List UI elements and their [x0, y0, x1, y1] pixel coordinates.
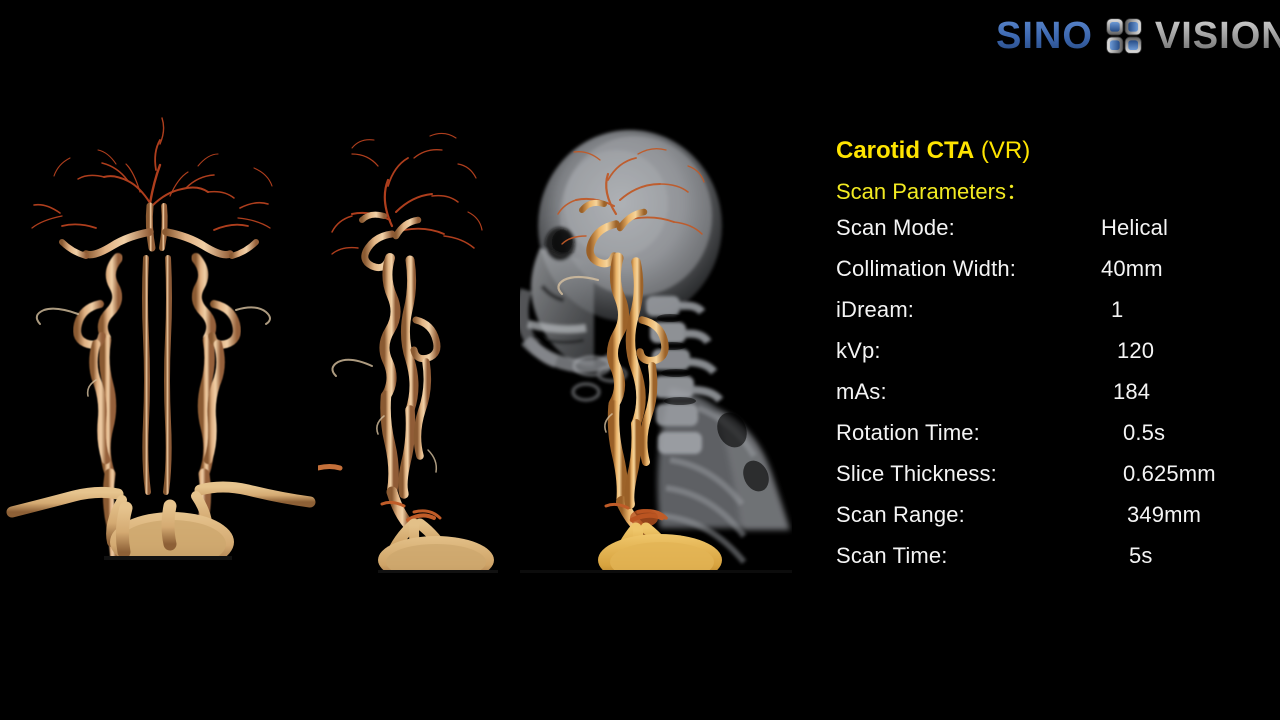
carotid-vr-anterior-view	[0, 108, 322, 560]
sinovision-logo: SINO	[996, 8, 1262, 64]
parameter-label: iDream:	[836, 297, 1101, 323]
parameter-value: 40mm	[1101, 256, 1163, 282]
skull-overlay-vr-render	[520, 108, 792, 573]
logo-text-sino: SINO	[996, 17, 1093, 55]
logo-text-vision: VISION	[1155, 17, 1280, 55]
parameter-value: 0.5s	[1101, 420, 1165, 446]
parameter-row: Slice Thickness:0.625mm	[836, 461, 1266, 502]
parameter-label: Rotation Time:	[836, 420, 1101, 446]
sinovision-clover-emblem-icon	[1095, 9, 1153, 63]
parameter-row: Scan Mode:Helical	[836, 215, 1266, 256]
page-title-main: Carotid CTA	[836, 137, 974, 164]
parameter-label: Scan Mode:	[836, 215, 1101, 241]
scan-parameters-heading: Scan Parameters：	[836, 179, 1266, 204]
parameter-row: Collimation Width:40mm	[836, 256, 1266, 297]
parameter-row: mAs:184	[836, 379, 1266, 420]
parameter-value: 349mm	[1101, 502, 1201, 528]
parameter-row: Scan Time:5s	[836, 543, 1266, 584]
page-title-modality: (VR)	[981, 137, 1030, 164]
anterior-vr-render	[0, 108, 322, 560]
presentation-slide: SINO	[0, 0, 1280, 720]
parameter-row: Scan Range:349mm	[836, 502, 1266, 543]
parameter-label: Scan Time:	[836, 543, 1101, 569]
parameter-value: 5s	[1101, 543, 1153, 569]
page-title: Carotid CTA (VR)	[836, 137, 1266, 165]
parameter-value: 1	[1101, 297, 1123, 323]
parameter-row: kVp:120	[836, 338, 1266, 379]
parameter-label: Scan Range:	[836, 502, 1101, 528]
scan-parameters-list: Scan Mode:HelicalCollimation Width:40mmi…	[836, 215, 1266, 584]
parameter-label: Collimation Width:	[836, 256, 1101, 282]
parameter-label: mAs:	[836, 379, 1101, 405]
parameter-label: kVp:	[836, 338, 1101, 364]
parameter-row: iDream:1	[836, 297, 1266, 338]
parameter-value: 120	[1101, 338, 1154, 364]
parameter-row: Rotation Time:0.5s	[836, 420, 1266, 461]
parameter-value: 184	[1101, 379, 1150, 405]
scan-info-panel: Carotid CTA (VR) Scan Parameters： Scan M…	[836, 137, 1266, 584]
parameter-label: Slice Thickness:	[836, 461, 1101, 487]
carotid-vr-skull-overlay-view	[520, 108, 792, 573]
carotid-vr-lateral-view	[318, 108, 518, 573]
parameter-value: Helical	[1101, 215, 1168, 241]
lateral-vr-render	[318, 108, 518, 573]
parameter-value: 0.625mm	[1101, 461, 1216, 487]
